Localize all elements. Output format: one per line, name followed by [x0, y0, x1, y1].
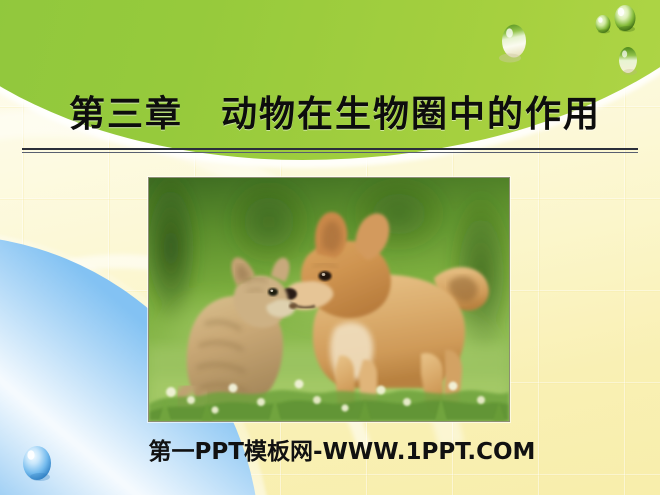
green-band-white-edge [0, 0, 660, 168]
kitten-and-puppy-photo [149, 178, 509, 421]
droplet-edge-mid-icon [498, 22, 530, 71]
droplet-green-large-icon [612, 2, 638, 39]
slide-title-block: 第三章 动物在生物圈中的作用 [0, 96, 660, 134]
footer-watermark: 第一PPT模板网-WWW.1PPT.COM [0, 432, 660, 466]
droplet-green-small-icon [594, 12, 612, 39]
green-band [0, 0, 660, 160]
page-title: 第三章 动物在生物圈中的作用 [0, 96, 660, 134]
presentation-slide: 第三章 动物在生物圈中的作用 [0, 0, 660, 495]
title-underline-rules [22, 148, 638, 153]
droplet-edge-right-icon [616, 44, 640, 83]
slide-photo [148, 177, 510, 422]
title-rule-thin [22, 152, 638, 153]
